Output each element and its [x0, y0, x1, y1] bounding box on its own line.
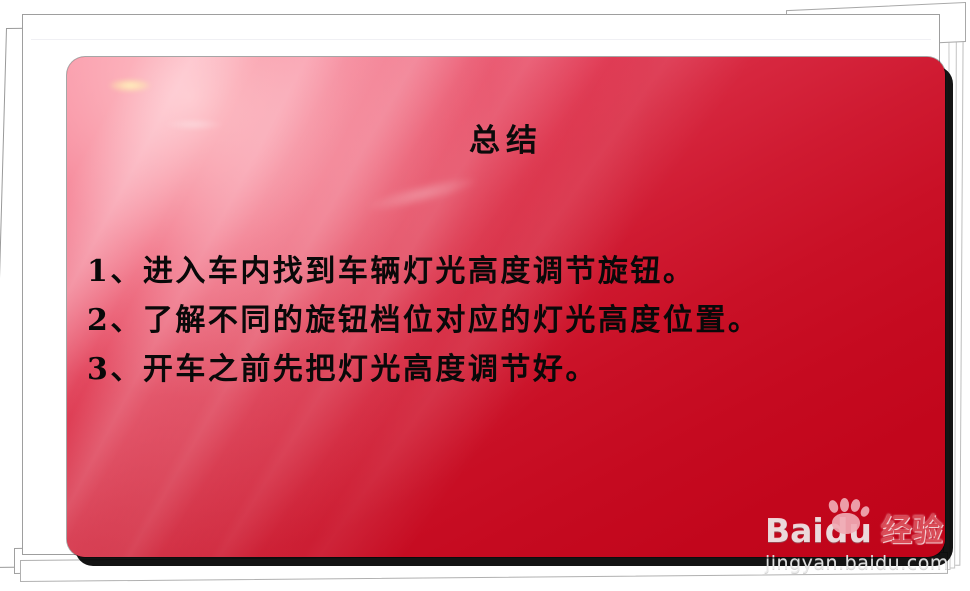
slide-body-line-1: 1、进入车内找到车辆灯光高度调节旋钮。 [87, 247, 925, 296]
slide-title: 总结 [67, 115, 945, 160]
slide-viewer: 总结 1、进入车内找到车辆灯光高度调节旋钮。 2、了解不同的旋钮档位对应的灯光高… [0, 0, 970, 591]
slide-page: 总结 1、进入车内找到车辆灯光高度调节旋钮。 2、了解不同的旋钮档位对应的灯光高… [22, 14, 940, 555]
presentation-slide[interactable]: 总结 1、进入车内找到车辆灯光高度调节旋钮。 2、了解不同的旋钮档位对应的灯光高… [67, 57, 945, 557]
slide-body-line-3: 3、开车之前先把灯光高度调节好。 [87, 345, 925, 394]
slide-body: 1、进入车内找到车辆灯光高度调节旋钮。 2、了解不同的旋钮档位对应的灯光高度位置… [87, 247, 925, 394]
slide-body-line-2: 2、了解不同的旋钮档位对应的灯光高度位置。 [87, 296, 925, 345]
